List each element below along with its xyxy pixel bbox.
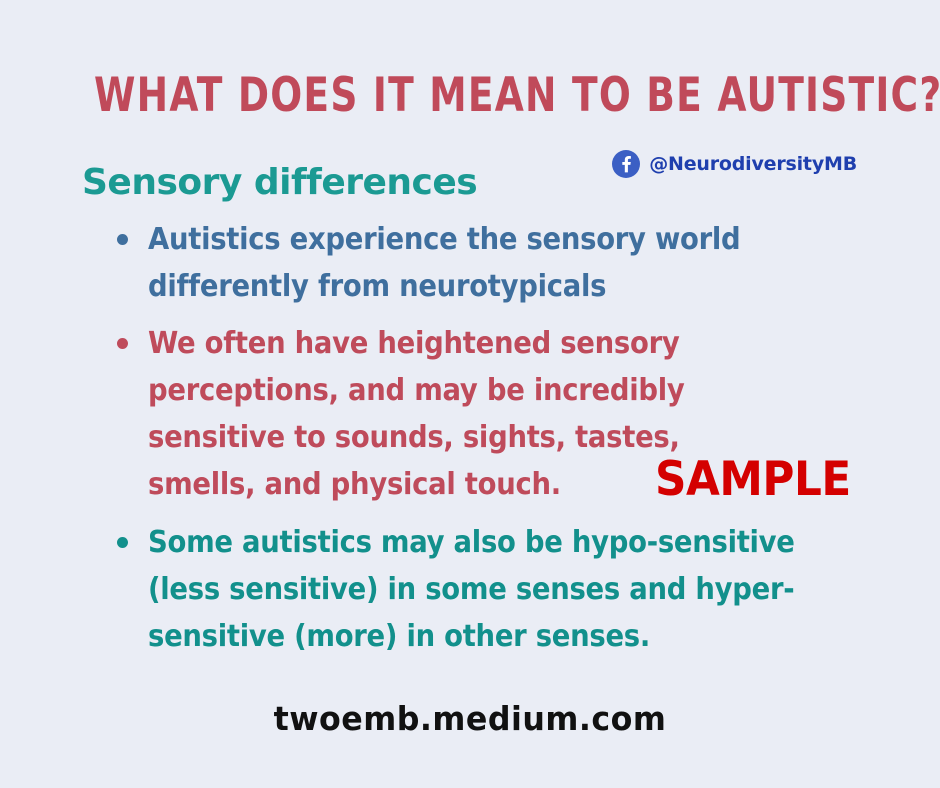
list-item-text: Autistics experience the sensory world d… [148,216,809,310]
social-handle[interactable]: @NeurodiversityMB [612,150,857,178]
social-handle-text: @NeurodiversityMB [649,153,857,175]
list-item-text: Some autistics may also be hypo-sensitiv… [148,519,809,660]
facebook-icon[interactable] [612,150,640,178]
bullet-dot-icon [117,338,128,349]
bullet-list: Autistics experience the sensory world d… [110,216,870,670]
bullet-dot-icon [117,537,128,548]
list-item: Some autistics may also be hypo-sensitiv… [110,519,870,660]
sample-watermark: SAMPLE [655,456,851,503]
list-item: Autistics experience the sensory world d… [110,216,870,310]
section-heading: Sensory differences [82,163,477,203]
page-title: WHAT DOES IT MEAN TO BE AUTISTIC? [94,72,846,119]
bullet-dot-icon [117,234,128,245]
infographic-canvas: WHAT DOES IT MEAN TO BE AUTISTIC? @Neuro… [0,0,940,788]
footer-url[interactable]: twoemb.medium.com [19,702,921,735]
